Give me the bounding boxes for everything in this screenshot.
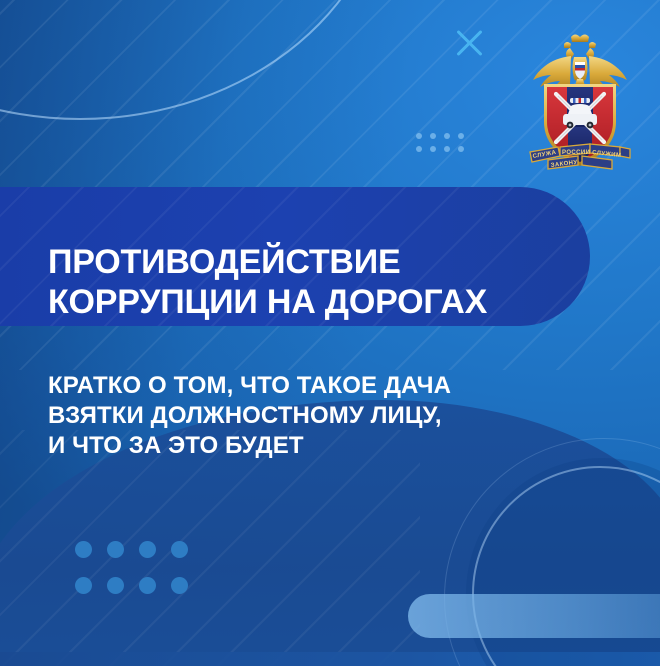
x-mark-icon <box>452 26 486 60</box>
page-title: ПРОТИВОДЕЙСТВИЕ КОРРУПЦИИ НА ДОРОГАХ <box>48 242 588 322</box>
eagle-icon <box>533 35 627 93</box>
svg-text:РОССИИ: РОССИИ <box>562 150 590 156</box>
poster-root: ПРОТИВОДЕЙСТВИЕ КОРРУПЦИИ НА ДОРОГАХ КРА… <box>0 0 660 666</box>
mvd-gibdd-emblem: СЛУЖА РОССИИ СЛУЖИМ ЗАКОНУ <box>524 24 636 176</box>
dot-grid-bottom-icon <box>75 541 203 613</box>
dot-grid-top-icon <box>416 133 472 159</box>
rounded-light-bar <box>408 594 660 638</box>
page-subtitle: КРАТКО О ТОМ, ЧТО ТАКОЕ ДАЧА ВЗЯТКИ ДОЛЖ… <box>48 371 568 461</box>
